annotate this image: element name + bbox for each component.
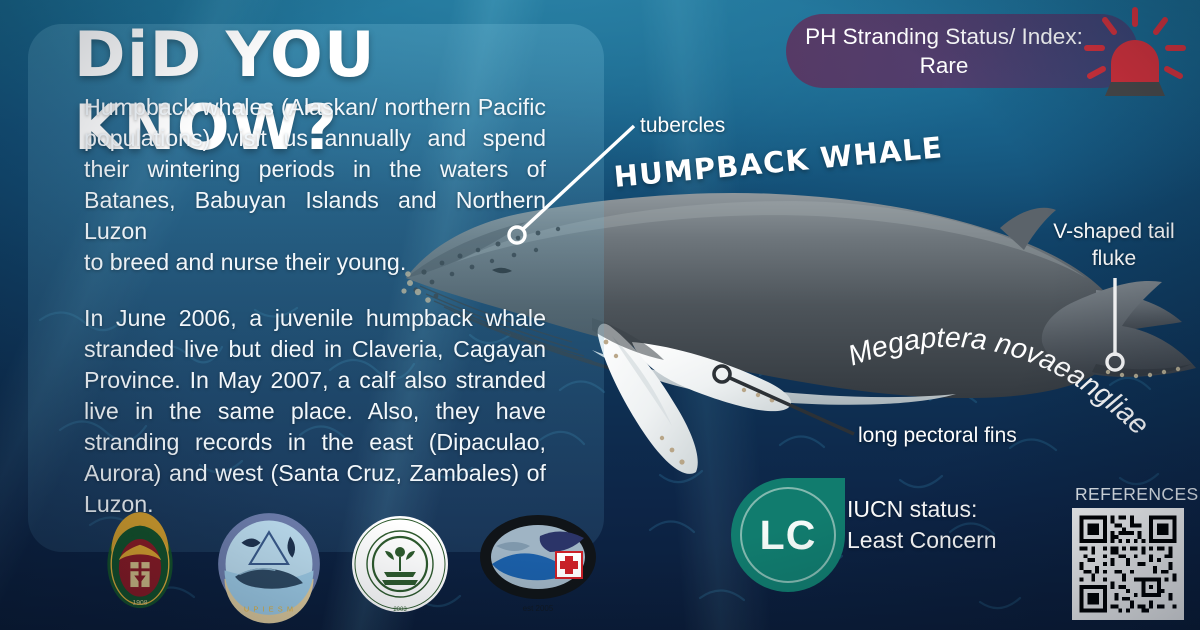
vignette-overlay bbox=[0, 0, 1200, 630]
infographic-poster: DiD YOU KNOW? Humpback whales (Alaskan/ … bbox=[0, 0, 1200, 630]
